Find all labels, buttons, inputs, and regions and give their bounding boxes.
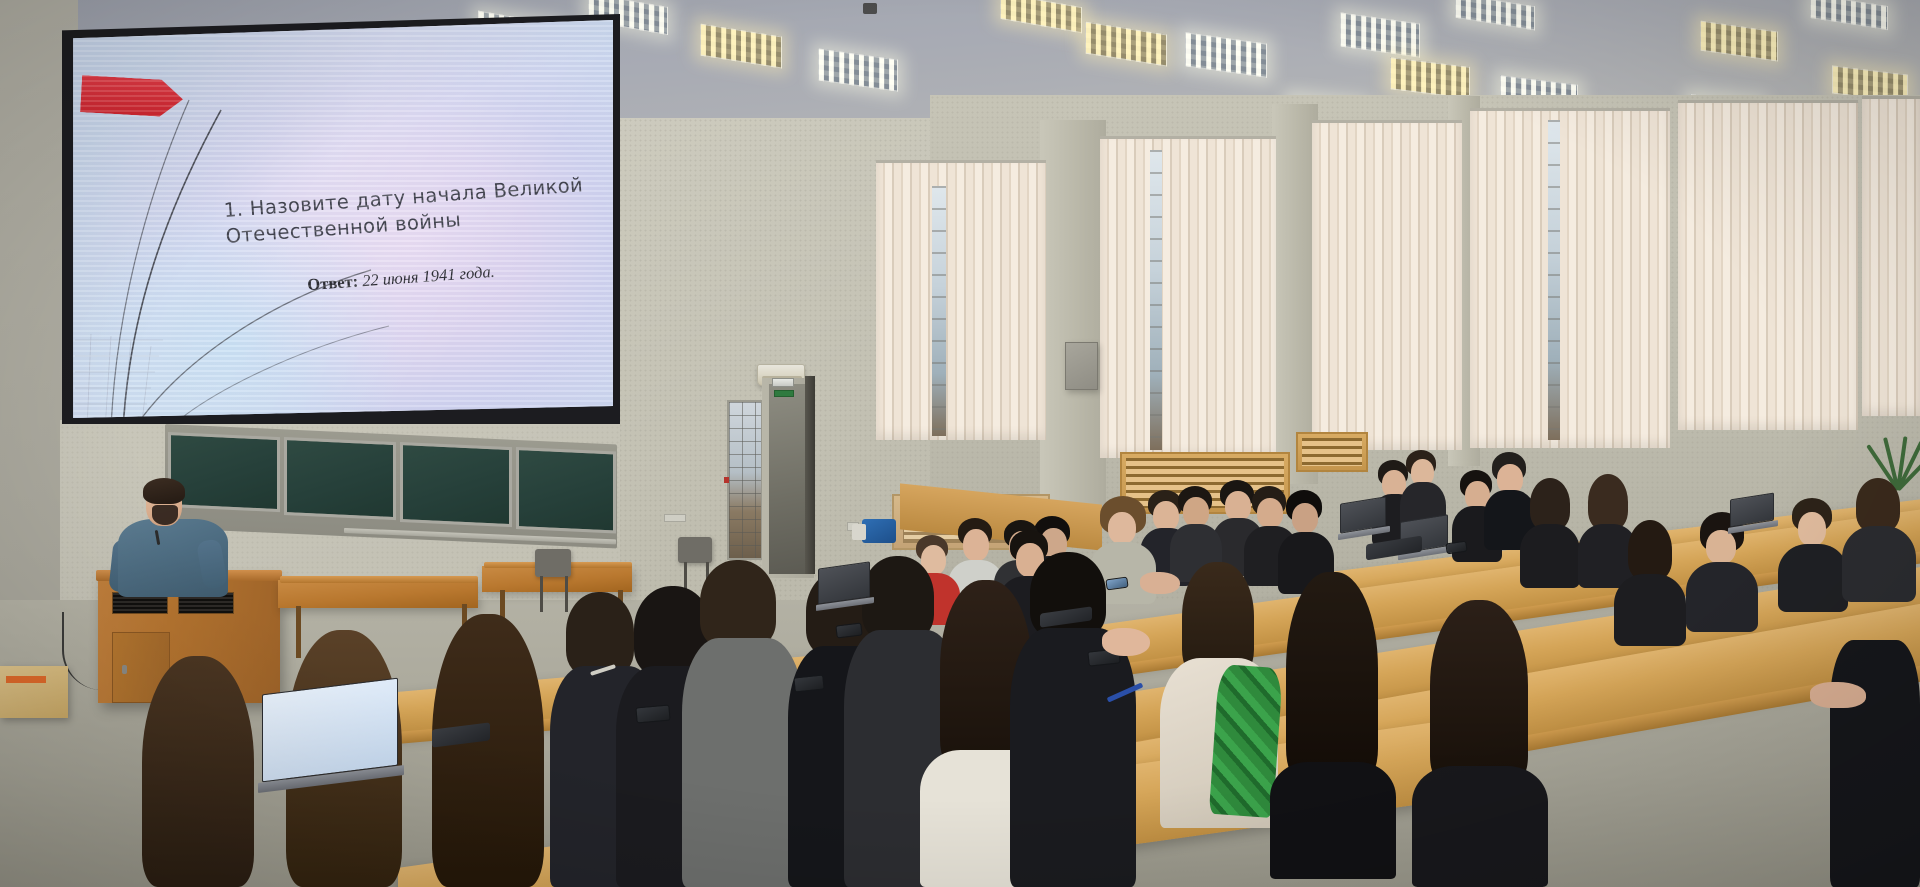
student-torso — [1270, 762, 1396, 879]
student-hair — [142, 656, 254, 887]
desk-clutter — [862, 519, 896, 543]
student-torso — [1614, 574, 1686, 646]
chair[interactable] — [535, 549, 571, 577]
student-hand — [1102, 628, 1150, 656]
table-leg — [296, 606, 301, 658]
light-switch[interactable] — [664, 514, 686, 522]
wall-louver-panel — [1296, 432, 1368, 472]
student-hand — [1140, 572, 1180, 594]
student-torso — [1842, 526, 1916, 602]
student-head — [1257, 498, 1283, 528]
projected-slide: 1. Назовите дату начала Великой Отечеств… — [71, 20, 613, 418]
cardboard-box — [0, 666, 68, 718]
ceiling-lamp — [700, 24, 782, 69]
ceiling-lamp — [1340, 12, 1420, 57]
vertical-blinds[interactable] — [1678, 100, 1858, 430]
ceiling-lamp — [1810, 0, 1888, 30]
podium-lock-icon — [122, 665, 127, 674]
door-leaf[interactable] — [805, 376, 815, 574]
exit-door[interactable] — [769, 384, 807, 574]
projection-screen: 1. Назовите дату начала Великой Отечеств… — [62, 14, 620, 424]
ceiling-lamp — [1390, 57, 1470, 99]
green-chalkboard[interactable] — [400, 442, 512, 527]
vertical-blinds[interactable] — [876, 160, 1046, 440]
student-head — [1108, 512, 1136, 544]
student-torso — [682, 638, 804, 887]
window-gap — [1548, 120, 1560, 440]
green-chalkboard[interactable] — [516, 447, 616, 534]
lecturer-beard — [152, 505, 178, 525]
demonstration-table — [278, 580, 478, 608]
alarm-button-icon[interactable] — [724, 477, 729, 483]
vertical-blinds[interactable] — [1312, 120, 1462, 450]
student-head — [1798, 512, 1826, 546]
lecture-hall-photo: 1. Назовите дату начала Великой Отечеств… — [0, 0, 1920, 887]
ceiling-lamp — [1455, 0, 1535, 30]
student-torso — [1778, 544, 1848, 612]
chair[interactable] — [678, 537, 712, 563]
vertical-blinds[interactable] — [1470, 108, 1670, 448]
student-hair — [1628, 520, 1672, 580]
wall-pilaster — [1040, 120, 1106, 510]
ceiling-lamp — [1000, 0, 1082, 33]
student-hair — [1856, 478, 1900, 532]
student-hair — [1588, 474, 1628, 530]
vertical-blinds[interactable] — [1862, 96, 1920, 416]
slide-answer-label: Ответ: — [307, 272, 359, 295]
laptop-screen — [262, 678, 398, 783]
smartphone[interactable] — [635, 705, 670, 724]
student-torso — [1520, 524, 1580, 588]
vertical-blinds[interactable] — [1100, 136, 1276, 458]
exit-sign — [772, 378, 794, 387]
emergency-exit-sign-icon — [774, 390, 794, 397]
student-head — [963, 529, 989, 561]
corridor-window — [727, 400, 763, 560]
student-hair — [1430, 600, 1528, 786]
green-chalkboard[interactable] — [168, 432, 280, 512]
paper-stack — [852, 524, 866, 540]
student-hair — [566, 592, 634, 676]
ceiling-lamp — [1185, 32, 1267, 78]
ceiling-lamp — [1700, 21, 1778, 62]
student-hair — [700, 560, 776, 648]
smoke-detector-icon — [863, 3, 877, 14]
ceiling-lamp — [818, 48, 898, 91]
student-head — [1183, 497, 1209, 527]
chair-leg — [540, 576, 543, 612]
window-gap — [932, 186, 946, 436]
student-hair — [1286, 572, 1378, 782]
student-head — [1292, 503, 1318, 533]
window-gap — [1150, 150, 1162, 450]
wall-speaker — [1065, 342, 1098, 390]
student-torso — [1010, 628, 1136, 887]
table-lip — [280, 576, 478, 583]
potted-plant — [1872, 400, 1920, 490]
student-hair — [1530, 478, 1570, 530]
student-hand — [1810, 682, 1866, 708]
student-torso — [1686, 562, 1758, 632]
lecturer-hair — [143, 478, 185, 504]
student-torso — [1412, 766, 1548, 887]
green-chalkboard[interactable] — [284, 437, 396, 520]
ceiling-lamp — [1085, 22, 1167, 67]
student-head — [1225, 491, 1251, 521]
smartphone[interactable] — [793, 674, 824, 692]
student-head — [1706, 530, 1736, 564]
student-head — [1153, 501, 1179, 531]
chair-leg — [565, 576, 568, 612]
student-torso — [1830, 640, 1920, 887]
student-hair — [432, 614, 544, 887]
